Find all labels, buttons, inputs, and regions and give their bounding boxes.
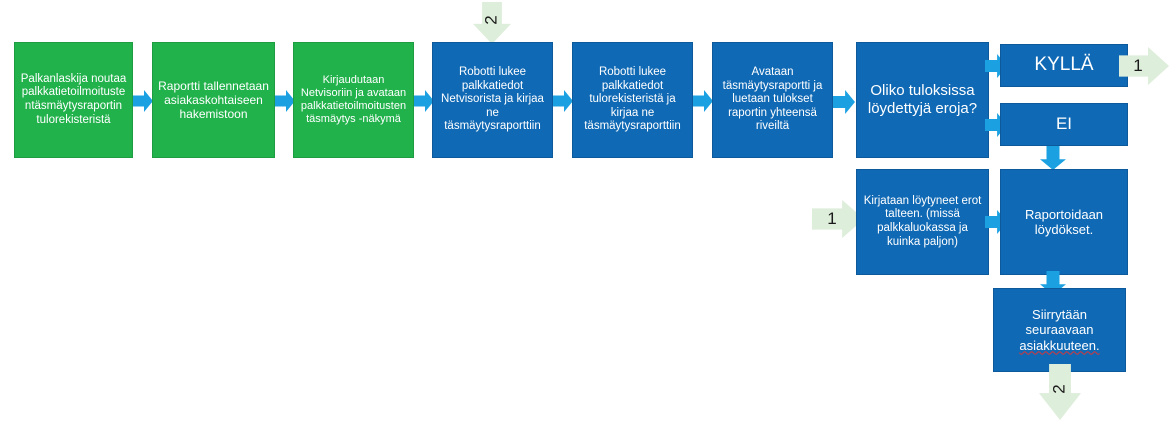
connector-arrow-n2-n3 <box>275 90 295 112</box>
flow-node-kirjataan-loytyneet-erot[interactable]: Kirjataan löytyneet erot talteen. (missä… <box>856 169 989 275</box>
flow-node-kylla[interactable]: KYLLÄ <box>1000 44 1128 87</box>
connector-arrow-n4-n5 <box>553 90 573 112</box>
offpage-connector-label: 1 <box>827 209 836 229</box>
flow-node-ei[interactable]: EI <box>1000 103 1128 146</box>
flow-node-raportoidaan-loydokset[interactable]: Raportoidaan löydökset. <box>1000 169 1128 275</box>
offpage-connector-2-in[interactable]: 2 <box>473 2 511 44</box>
flow-node-label: KYLLÄ <box>1005 54 1123 76</box>
offpage-connector-2-out[interactable]: 2 <box>1039 364 1081 420</box>
flow-node-robotti-lukee-tulorekisterista[interactable]: Robotti lukee palkkatiedot tulorekisteri… <box>572 42 693 158</box>
flow-node-palkanlaskija-noutaa[interactable]: Palkanlaskija noutaa palkkatietoilmoitus… <box>14 42 133 158</box>
connector-arrow-n5-n6 <box>693 90 713 112</box>
flow-node-label: Robotti lukee palkkatiedot Netvisorista … <box>437 66 548 134</box>
flow-node-label: Kirjaudutaan Netvisoriin ja avataan palk… <box>298 74 409 126</box>
offpage-connector-label: 2 <box>1050 384 1070 393</box>
flow-node-label: Raportti tallennetaan asiakaskohtaiseen … <box>157 79 270 121</box>
flow-node-label: Oliko tuloksissa löydettyjä eroja? <box>861 82 984 117</box>
flow-node-label-line1: Siirrytään <box>1032 307 1087 322</box>
connector-arrow-n1-n2 <box>133 90 153 112</box>
flowchart-canvas: Palkanlaskija noutaa palkkatietoilmoitus… <box>0 0 1171 425</box>
offpage-connector-label: 1 <box>1133 56 1142 76</box>
flow-node-label: Palkanlaskija noutaa palkkatietoilmoitus… <box>19 73 128 127</box>
flow-node-label: EI <box>1005 114 1123 134</box>
flow-node-oliko-tuloksissa-eroja[interactable]: Oliko tuloksissa löydettyjä eroja? <box>856 42 989 158</box>
connector-arrow-n6-n7 <box>833 90 855 114</box>
flow-node-label-line3: asiakkuuteen. <box>1019 338 1099 353</box>
flow-node-label: Robotti lukee palkkatiedot tulorekisteri… <box>577 66 688 134</box>
flow-node-label: Kirjataan löytyneet erot talteen. (missä… <box>861 195 984 249</box>
flow-node-raportti-tallennetaan[interactable]: Raportti tallennetaan asiakaskohtaiseen … <box>152 42 275 158</box>
flow-node-avataan-tasmaytysraportti[interactable]: Avataan täsmäytysraportti ja luetaan tul… <box>712 42 833 158</box>
flow-node-robotti-lukee-netvisorista[interactable]: Robotti lukee palkkatiedot Netvisorista … <box>432 42 553 158</box>
flow-node-label: Avataan täsmäytysraportti ja luetaan tul… <box>717 66 828 134</box>
flow-node-label-line2: seuraavaan <box>1026 322 1094 337</box>
connector-arrow-ei-raportoidaan <box>1040 146 1066 170</box>
flow-node-label: Siirrytäänseuraavaanasiakkuuteen. <box>998 307 1121 353</box>
flow-node-siirrytaan-seuraavaan-asiakkuuteen[interactable]: Siirrytäänseuraavaanasiakkuuteen. <box>993 288 1126 372</box>
flow-node-label: Raportoidaan löydökset. <box>1005 207 1123 238</box>
offpage-connector-label: 2 <box>482 15 502 24</box>
flow-node-kirjaudutaan-netvisoriin[interactable]: Kirjaudutaan Netvisoriin ja avataan palk… <box>293 42 414 158</box>
connector-arrow-n3-n4 <box>414 90 434 112</box>
